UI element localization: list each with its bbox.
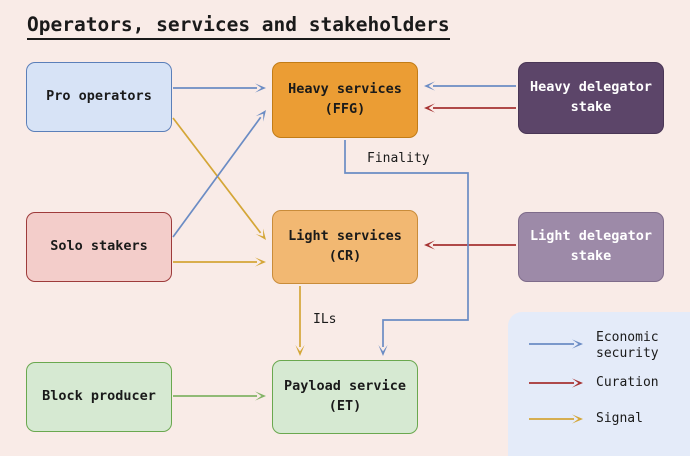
legend-label-signal: Signal [596,411,643,427]
legend-arrow-layer [0,0,690,456]
diagram-canvas: Operators, services and stakeholders Pro… [0,0,690,456]
legend-label-economic-security: Economic security [596,330,659,363]
legend-label-curation: Curation [596,375,659,391]
